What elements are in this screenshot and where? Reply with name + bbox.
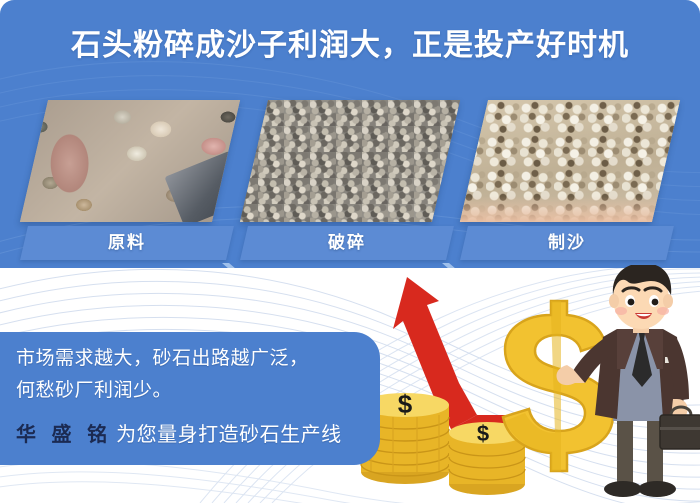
process-flow: 原料 破碎 制沙 — [0, 96, 700, 268]
raw-material-photo — [20, 100, 240, 222]
promo-banner: 石头粉碎成沙子利润大，正是投产好时机 原料 破碎 — [0, 0, 700, 503]
process-step-label-1-text: 原料 — [24, 226, 230, 260]
process-step-crushing: 破碎 — [244, 96, 456, 268]
process-step-label-3-text: 制沙 — [464, 226, 670, 260]
crushed-gravel-photo — [240, 100, 460, 222]
process-step-label-3: 制沙 — [460, 226, 674, 260]
promo-text-panel: 市场需求越大，砂石出路越广泛， 何愁砂厂利润少。 华 盛 铭为您量身打造砂石生产… — [0, 332, 380, 465]
manufactured-sand-photo — [460, 100, 680, 222]
chevron-right-icon — [220, 261, 246, 268]
process-step-label-1: 原料 — [20, 226, 234, 260]
process-step-sand-making: 制沙 — [464, 96, 676, 268]
promo-line-3-rest: 为您量身打造砂石生产线 — [116, 424, 342, 446]
svg-text:$: $ — [477, 421, 489, 446]
businessman-with-money-illustration: $ $ — [355, 265, 700, 503]
businessman-figure — [556, 265, 700, 497]
promo-line-3: 华 盛 铭为您量身打造砂石生产线 — [16, 420, 342, 450]
process-step-raw-material: 原料 — [24, 96, 236, 268]
promo-line-2: 何愁砂厂利润少。 — [16, 376, 172, 406]
promo-line-1: 市场需求越大，砂石出路越广泛， — [16, 344, 309, 374]
brand-name: 华 盛 铭 — [16, 424, 112, 446]
process-step-label-2-text: 破碎 — [244, 226, 450, 260]
process-step-label-2: 破碎 — [240, 226, 454, 260]
header-panel: 石头粉碎成沙子利润大，正是投产好时机 原料 破碎 — [0, 0, 700, 268]
svg-text:$: $ — [398, 389, 413, 419]
page-title: 石头粉碎成沙子利润大，正是投产好时机 — [0, 26, 700, 66]
